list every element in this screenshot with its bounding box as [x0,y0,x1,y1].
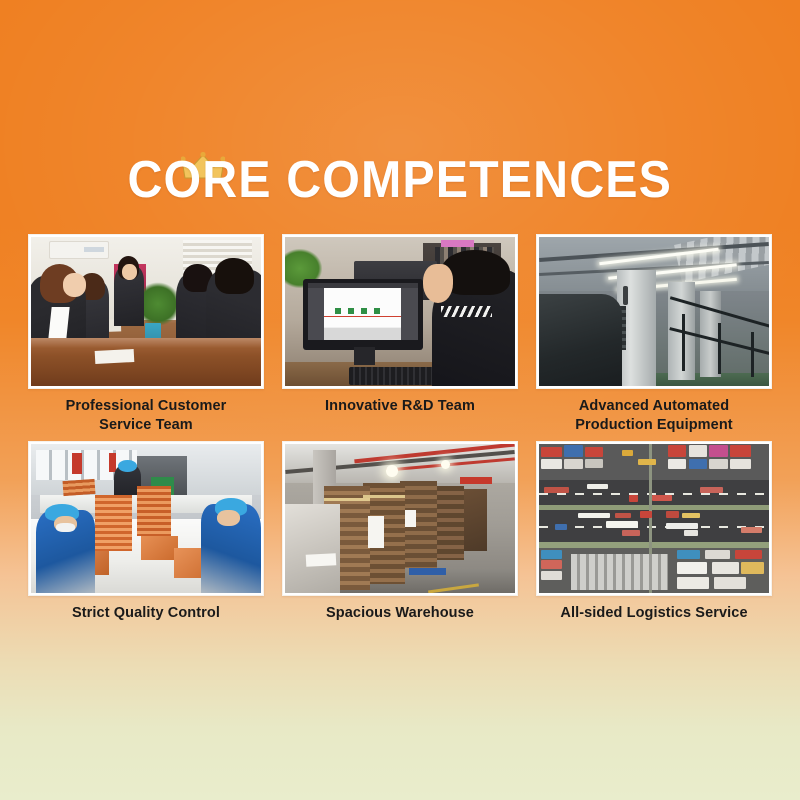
competence-caption: Innovative R&D Team [275,397,525,416]
competence-card-spacious-warehouse[interactable]: Spacious Warehouse [282,441,518,623]
caption-line-1: Spacious Warehouse [275,604,525,623]
caption-line-2: Service Team [21,416,271,435]
photo-professional-customer-service-team [31,237,261,386]
photo-frame [536,441,772,596]
caption-line-2: Production Equipment [529,416,779,435]
competence-caption: Spacious Warehouse [275,604,525,623]
photo-spacious-warehouse [285,444,515,593]
photo-strict-quality-control [31,444,261,593]
competence-card-strict-quality-control[interactable]: Strict Quality Control [28,441,264,623]
photo-all-sided-logistics-service [539,444,769,593]
photo-frame [28,441,264,596]
caption-line-1: All-sided Logistics Service [529,604,779,623]
page-title: CORE COMPETENCES [128,150,673,210]
competence-caption: Professional Customer Service Team [21,397,271,435]
page-title-block: CORE COMPETENCES [0,150,800,210]
competence-caption: Strict Quality Control [21,604,271,623]
caption-line-1: Innovative R&D Team [275,397,525,416]
core-competences-banner: CORE COMPETENCES Professional Cus [0,0,800,800]
photo-advanced-automated-production-equipment [539,237,769,386]
competence-card-all-sided-logistics-service[interactable]: All-sided Logistics Service [536,441,772,623]
competence-grid: Professional Customer Service Team [28,234,772,623]
competence-caption: Advanced Automated Production Equipment [529,397,779,435]
competence-card-innovative-rd-team[interactable]: Innovative R&D Team [282,234,518,435]
photo-frame [282,234,518,389]
competence-caption: All-sided Logistics Service [529,604,779,623]
photo-frame [536,234,772,389]
photo-innovative-rd-team [285,237,515,386]
competence-card-professional-customer-service-team[interactable]: Professional Customer Service Team [28,234,264,435]
photo-frame [282,441,518,596]
photo-frame [28,234,264,389]
caption-line-1: Advanced Automated [529,397,779,416]
caption-line-1: Strict Quality Control [21,604,271,623]
competence-card-advanced-automated-production-equipment[interactable]: Advanced Automated Production Equipment [536,234,772,435]
caption-line-1: Professional Customer [21,397,271,416]
